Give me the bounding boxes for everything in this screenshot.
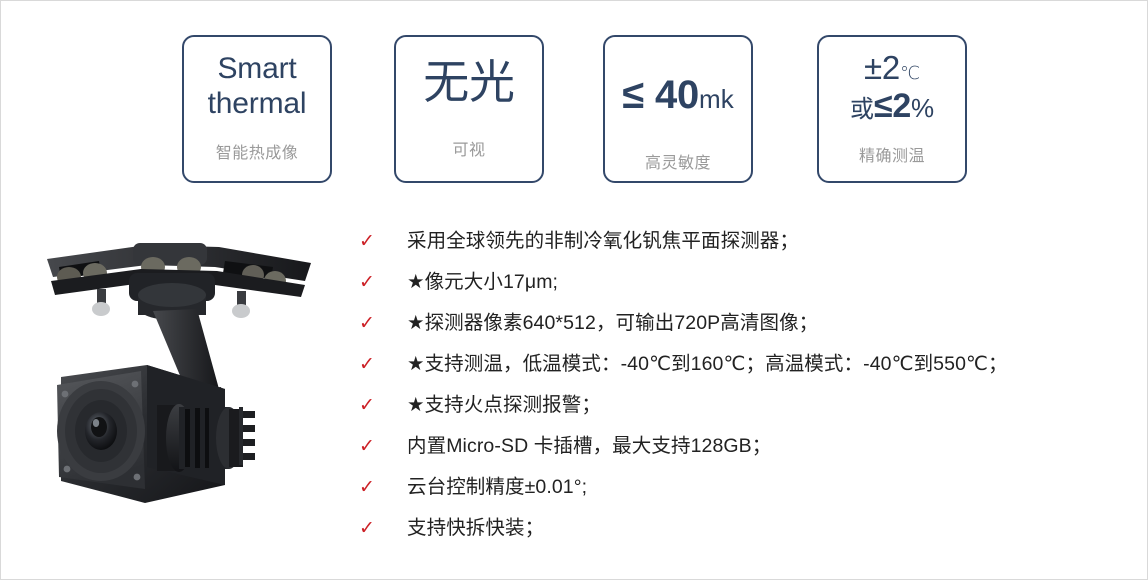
spec-list-item: ✓ 云台控制精度±0.01°;	[359, 467, 1129, 508]
feature-card-subtitle: 精确测温	[819, 126, 965, 166]
gimbal-camera-icon	[29, 237, 329, 537]
feature-card-title: ≤ 40mk	[605, 37, 751, 119]
accuracy-or-prefix: 或	[850, 96, 874, 123]
feature-card-title: ±2℃或≤2%	[819, 37, 965, 126]
spec-text: 支持快拆快装；	[407, 516, 544, 540]
spec-text: ★像元大小17μm;	[407, 270, 558, 294]
feature-card-subtitle: 高灵敏度	[605, 119, 751, 173]
feature-card-title: Smart thermal	[184, 37, 330, 122]
product-spec-page: Smart thermal 智能热成像 无光 可视 ≤ 40mk 高灵敏度 ±2…	[0, 0, 1148, 580]
check-icon: ✓	[359, 519, 383, 538]
spec-text: ★支持测温，低温模式：-40℃到160℃；高温模式：-40℃到550℃；	[407, 352, 1008, 376]
accuracy-value-secondary: ≤2	[874, 87, 911, 125]
spec-list: ✓ 采用全球领先的非制冷氧化钒焦平面探测器； ✓ ★像元大小17μm; ✓ ★探…	[359, 221, 1129, 549]
connector-fins	[239, 407, 255, 465]
spec-text: 云台控制精度±0.01°;	[407, 475, 587, 499]
spec-list-item: ✓ 采用全球领先的非制冷氧化钒焦平面探测器；	[359, 221, 1129, 262]
accuracy-unit-percent: %	[911, 93, 934, 123]
spec-list-item: ✓ ★支持火点探测报警；	[359, 385, 1129, 426]
accuracy-value-primary: ±2	[864, 49, 900, 86]
spec-list-item: ✓ ★探测器像素640*512，可输出720P高清图像；	[359, 303, 1129, 344]
check-icon: ✓	[359, 314, 383, 333]
less-than-equal-symbol: ≤	[622, 73, 644, 117]
feature-card-title: 无光	[396, 37, 542, 109]
feature-card-title-line2: thermal	[184, 86, 330, 121]
product-image	[29, 237, 329, 537]
feature-card-accuracy: ±2℃或≤2% 精确测温	[817, 35, 967, 183]
feature-card-subtitle: 可视	[396, 109, 542, 160]
sensitivity-unit: mk	[699, 84, 734, 114]
feature-card-subtitle: 智能热成像	[184, 122, 330, 163]
check-icon: ✓	[359, 437, 383, 456]
spec-list-item: ✓ 支持快拆快装；	[359, 508, 1129, 549]
feature-card-sensitivity: ≤ 40mk 高灵敏度	[603, 35, 753, 183]
check-icon: ✓	[359, 478, 383, 497]
spec-text: ★支持火点探测报警；	[407, 393, 601, 417]
spec-text: ★探测器像素640*512，可输出720P高清图像；	[407, 311, 818, 335]
sensitivity-value: 40	[655, 73, 699, 117]
feature-card-smart-thermal: Smart thermal 智能热成像	[182, 35, 332, 183]
check-icon: ✓	[359, 355, 383, 374]
check-icon: ✓	[359, 396, 383, 415]
feature-cards-row: Smart thermal 智能热成像 无光 可视 ≤ 40mk 高灵敏度 ±2…	[1, 1, 1148, 201]
spec-text: 内置Micro-SD 卡插槽，最大支持128GB；	[407, 434, 771, 458]
check-icon: ✓	[359, 232, 383, 251]
spec-list-item: ✓ ★像元大小17μm;	[359, 262, 1129, 303]
accuracy-alt-line: 或≤2%	[819, 86, 965, 126]
check-icon: ✓	[359, 273, 383, 292]
spec-list-item: ✓ ★支持测温，低温模式：-40℃到160℃；高温模式：-40℃到550℃；	[359, 344, 1129, 385]
secondary-lens	[157, 404, 243, 472]
feature-card-no-light: 无光 可视	[394, 35, 544, 183]
spec-list-item: ✓ 内置Micro-SD 卡插槽，最大支持128GB；	[359, 426, 1129, 467]
accuracy-unit-celsius: ℃	[900, 63, 920, 83]
feature-card-title-line1: Smart	[184, 51, 330, 86]
spec-text: 采用全球领先的非制冷氧化钒焦平面探测器；	[407, 229, 799, 253]
